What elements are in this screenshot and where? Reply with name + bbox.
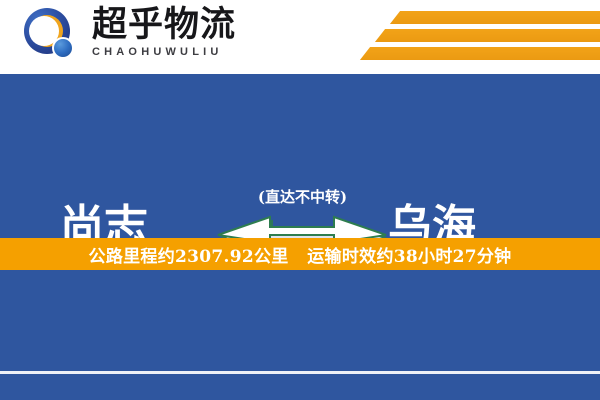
footer-divider [0, 371, 600, 374]
route-info-bar: 公路里程约2307.92公里 运输时效约38小时27分钟 [0, 238, 600, 270]
direct-shipping-tag: (直达不中转) [215, 187, 390, 207]
company-pinyin: CHAOHUWULIU [92, 45, 322, 59]
route-info-summary: 公路里程约2307.92公里 运输时效约38小时27分钟 [89, 242, 512, 267]
header-stripe-1 [390, 11, 600, 24]
route-panel: 尚志 (直达不中转) 【往返运输】 乌海 [0, 74, 600, 238]
chaohu-circle-logo-icon [24, 8, 78, 62]
banner-header: 超乎物流 CHAOHUWULIU [0, 0, 600, 70]
logistics-route-banner: 超乎物流 CHAOHUWULIU 尚志 (直达不中转) 【往返运输】 乌海 [0, 0, 600, 400]
logo-wordmark: 超乎物流 CHAOHUWULIU [92, 6, 322, 59]
header-stripe-2 [375, 29, 600, 42]
header-stripe-3 [360, 47, 600, 60]
logo-dot [52, 37, 74, 59]
company-name: 超乎物流 [92, 6, 322, 44]
service-area-panel: 海勃湾区、海南区、乌达区 [0, 270, 600, 400]
